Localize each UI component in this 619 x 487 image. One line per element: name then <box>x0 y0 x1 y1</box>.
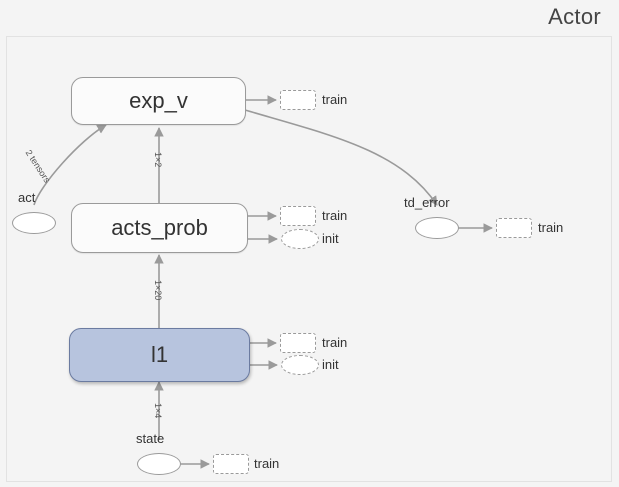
op-td-error-train[interactable] <box>496 218 532 238</box>
node-act-label: act <box>18 190 35 205</box>
op-acts-prob-init[interactable] <box>281 229 319 249</box>
edge-label-l1-acts-prob: 1×20 <box>153 280 163 300</box>
edge-label-state-l1: 1×4 <box>153 403 163 418</box>
op-state-train[interactable] <box>213 454 249 474</box>
op-l1-init[interactable] <box>281 355 319 375</box>
op-l1-train-label: train <box>322 335 347 350</box>
node-exp-v-label: exp_v <box>129 88 188 114</box>
node-l1[interactable]: l1 <box>69 328 250 382</box>
node-exp-v[interactable]: exp_v <box>71 77 246 125</box>
op-exp-v-train-label: train <box>322 92 347 107</box>
page-title: Actor <box>548 4 601 30</box>
op-state-train-label: train <box>254 456 279 471</box>
op-acts-prob-init-label: init <box>322 231 339 246</box>
op-l1-init-label: init <box>322 357 339 372</box>
node-td-error-label: td_error <box>404 195 450 210</box>
node-state[interactable] <box>137 453 181 475</box>
node-state-label: state <box>136 431 164 446</box>
node-acts-prob-label: acts_prob <box>111 215 208 241</box>
node-td-error[interactable] <box>415 217 459 239</box>
node-acts-prob[interactable]: acts_prob <box>71 203 248 253</box>
node-act[interactable] <box>12 212 56 234</box>
edge-label-acts-prob-exp-v: 1×2 <box>153 152 163 167</box>
op-acts-prob-train-label: train <box>322 208 347 223</box>
op-l1-train[interactable] <box>280 333 316 353</box>
diagram-canvas: Actor <box>0 0 619 487</box>
op-exp-v-train[interactable] <box>280 90 316 110</box>
op-acts-prob-train[interactable] <box>280 206 316 226</box>
op-td-error-train-label: train <box>538 220 563 235</box>
node-l1-label: l1 <box>151 342 168 368</box>
